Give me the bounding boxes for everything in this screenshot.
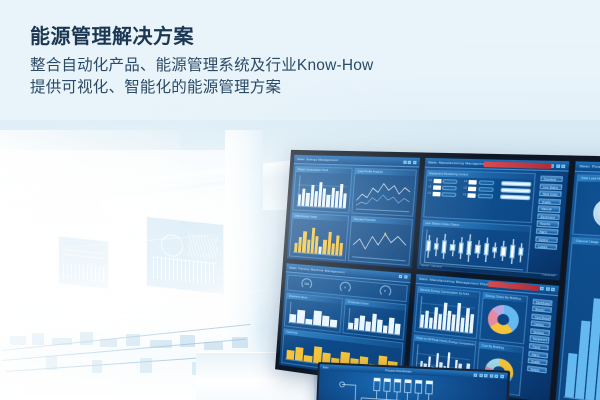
brand-logo: Siwin xyxy=(323,366,329,369)
user-icon xyxy=(500,374,504,378)
brand-logo: Siwin xyxy=(419,276,428,281)
window-controls[interactable] xyxy=(403,160,416,164)
line-chart xyxy=(353,224,408,260)
bar-chart xyxy=(297,176,348,207)
card-load-profile[interactable]: Load Profile Analysis xyxy=(352,168,417,217)
card-title: Cost By Building xyxy=(479,343,523,354)
window-controls[interactable] xyxy=(399,275,407,279)
card-title: Energy Share By Building xyxy=(483,292,527,302)
menu-item[interactable]: Logout xyxy=(535,243,558,250)
gear-icon xyxy=(490,374,494,377)
bar-chart xyxy=(348,309,401,335)
subtitle-line-1: 整合自动化产品、能源管理系统及行业Know-How xyxy=(30,55,373,77)
menu-item[interactable]: Overview xyxy=(540,175,563,182)
screen-energy-management[interactable]: Siwin Energy Management Power Consumptio… xyxy=(286,154,421,269)
menu-item[interactable]: Dashboard xyxy=(533,298,553,306)
card-daily-energy[interactable]: Daily Energy Usage xyxy=(289,212,349,260)
kpi-arc-availability: A xyxy=(339,281,351,293)
card-energy-share-donut[interactable]: Energy Share By Building xyxy=(479,291,529,344)
menu-item[interactable]: Setting xyxy=(527,365,547,373)
brand-logo: Siwin xyxy=(428,160,437,165)
menu-item[interactable]: Alarm xyxy=(536,228,559,235)
side-menu[interactable]: Dashboard Energy Cost Report Carbon Devi… xyxy=(523,296,556,400)
screen-title: Energy Management xyxy=(306,157,401,164)
tablet-toolbar[interactable] xyxy=(474,373,504,378)
kpi-arc-oee: OEE xyxy=(301,278,312,290)
card-downtime-hours[interactable]: Downtime Hours xyxy=(284,292,343,333)
card-title: Power Consumption Trend xyxy=(296,167,352,174)
kpi-arc-performance: P xyxy=(379,285,391,298)
menu-item[interactable]: Cost Report xyxy=(531,313,551,321)
card-equipment-control[interactable]: Equipment Monitoring Control L1 L4 L2 L5… xyxy=(423,170,537,223)
tablet-title: Process Flow Monitor xyxy=(385,369,411,373)
card-demand-forecast[interactable]: Demand Forecast xyxy=(348,215,413,265)
menu-item[interactable]: Equipment xyxy=(537,213,560,220)
card-title: Daily Energy Usage xyxy=(293,213,349,221)
home-icon xyxy=(474,373,478,376)
side-menu[interactable]: Overview Line Status Work Order Quality … xyxy=(530,173,566,277)
menu-item[interactable]: Quality xyxy=(539,198,562,205)
card-monthly-energy[interactable]: Monthly Energy Consumption by Area xyxy=(414,285,481,339)
bell-icon xyxy=(495,374,499,377)
brand-logo: Siwin xyxy=(579,164,589,169)
header: 能源管理解决方案 整合自动化产品、能源管理系统及行业Know-How 提供可视化… xyxy=(30,24,373,100)
tablet-screen: Siwin Process Flow Monitor xyxy=(317,364,507,400)
ghost-panel-right xyxy=(146,216,224,294)
menu-item[interactable]: Carbon xyxy=(531,320,551,328)
page-title: 能源管理解决方案 xyxy=(30,24,373,51)
card-power-consumption[interactable]: Power Consumption Trend xyxy=(292,166,353,213)
list-icon xyxy=(485,373,489,376)
brand-logo: Siwin xyxy=(289,265,297,270)
subtitle-line-2: 提供可视化、智能化的能源管理方案 xyxy=(30,77,373,99)
screen-body: Power Consumption Trend Load Profile Ana… xyxy=(287,164,419,268)
card-title: Monthly Energy Consumption by Area xyxy=(418,287,479,298)
bar-chart xyxy=(289,302,339,327)
screen-manufacturing-platform-top[interactable]: Siwin Manufacturing Management Platform … xyxy=(415,157,571,281)
menu-item[interactable]: Energy xyxy=(532,306,552,314)
card-production-count[interactable]: Production Count xyxy=(343,298,406,341)
card-title: Channel Usage xyxy=(573,238,600,248)
status-text: Operation xyxy=(431,266,442,269)
donut-chart xyxy=(487,304,520,336)
line-chart xyxy=(356,176,411,211)
brand-logo: Siwin xyxy=(297,157,305,161)
screen-title: Power Meter xyxy=(592,164,600,170)
card-channel-usage[interactable]: Channel Usage xyxy=(558,237,600,400)
window-controls[interactable] xyxy=(540,287,555,292)
card-title: Load Profile Analysis xyxy=(356,169,416,176)
menu-item[interactable]: Devices xyxy=(530,328,550,336)
menu-item[interactable]: Work Order xyxy=(539,191,562,198)
menu-item[interactable]: Reports xyxy=(537,221,560,228)
bar-chart-gold xyxy=(294,222,345,255)
chart-icon xyxy=(479,373,483,376)
menu-item[interactable]: Trend xyxy=(529,343,549,351)
status-text: System xyxy=(421,265,429,268)
menu-item[interactable]: Material xyxy=(538,206,561,213)
screen-body: Equipment Monitoring Control L1 L4 L2 L5… xyxy=(416,168,568,280)
status-text: Connected xyxy=(542,274,555,277)
gauge-icon xyxy=(573,181,600,239)
card-total-load-meter[interactable]: Total Load Meter xyxy=(572,174,600,239)
bar-chart xyxy=(565,249,600,400)
menu-item[interactable]: Setting xyxy=(535,236,558,243)
menu-item[interactable]: Quality xyxy=(528,358,548,366)
scene-root: Siwin Energy Management Power Consumptio… xyxy=(0,0,600,400)
menu-item[interactable]: Line Status xyxy=(540,183,563,190)
